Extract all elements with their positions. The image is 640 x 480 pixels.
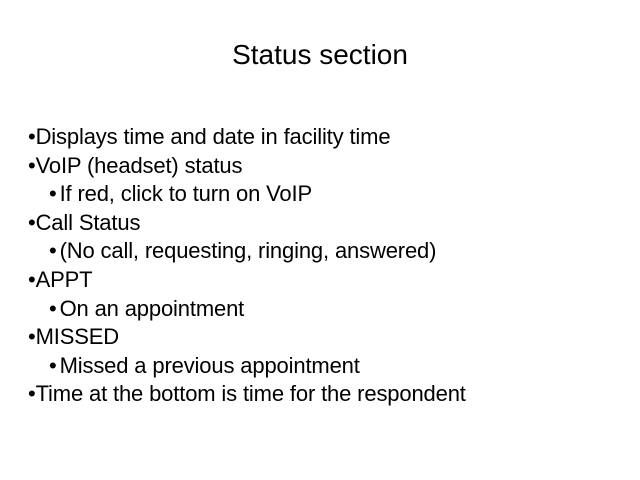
bullet-dot-icon: • — [28, 323, 36, 352]
list-item: •APPT — [28, 266, 628, 295]
bullet-dot-icon: • — [28, 380, 36, 409]
list-item: •On an appointment — [28, 295, 628, 324]
page-title: Status section — [0, 38, 640, 72]
bullet-dot-icon: • — [49, 180, 57, 209]
bullet-dot-icon: • — [49, 295, 57, 324]
slide-canvas: Status section •Displays time and date i… — [0, 0, 640, 480]
list-item: •If red, click to turn on VoIP — [28, 180, 628, 209]
bullet-list: •Displays time and date in facility time… — [28, 123, 628, 409]
bullet-dot-icon: • — [28, 152, 36, 181]
list-item: •Time at the bottom is time for the resp… — [28, 380, 628, 409]
list-item: •Missed a previous appointment — [28, 352, 628, 381]
list-item: •VoIP (headset) status — [28, 152, 628, 181]
list-item: •(No call, requesting, ringing, answered… — [28, 237, 628, 266]
list-item: •MISSED — [28, 323, 628, 352]
list-item-label: If red, click to turn on VoIP — [60, 181, 312, 206]
list-item-label: (No call, requesting, ringing, answered) — [60, 238, 437, 263]
bullet-dot-icon: • — [28, 266, 36, 295]
bullet-dot-icon: • — [49, 237, 57, 266]
list-item-label: Displays time and date in facility time — [36, 124, 391, 149]
list-item: •Call Status — [28, 209, 628, 238]
list-item-label: VoIP (headset) status — [36, 153, 243, 178]
bullet-dot-icon: • — [28, 209, 36, 238]
bullet-dot-icon: • — [49, 352, 57, 381]
list-item-label: Missed a previous appointment — [60, 353, 360, 378]
bullet-dot-icon: • — [28, 123, 36, 152]
list-item: •Displays time and date in facility time — [28, 123, 628, 152]
list-item-label: Call Status — [36, 210, 141, 235]
list-item-label: Time at the bottom is time for the respo… — [36, 381, 466, 406]
list-item-label: MISSED — [36, 324, 119, 349]
list-item-label: APPT — [36, 267, 93, 292]
list-item-label: On an appointment — [60, 296, 245, 321]
